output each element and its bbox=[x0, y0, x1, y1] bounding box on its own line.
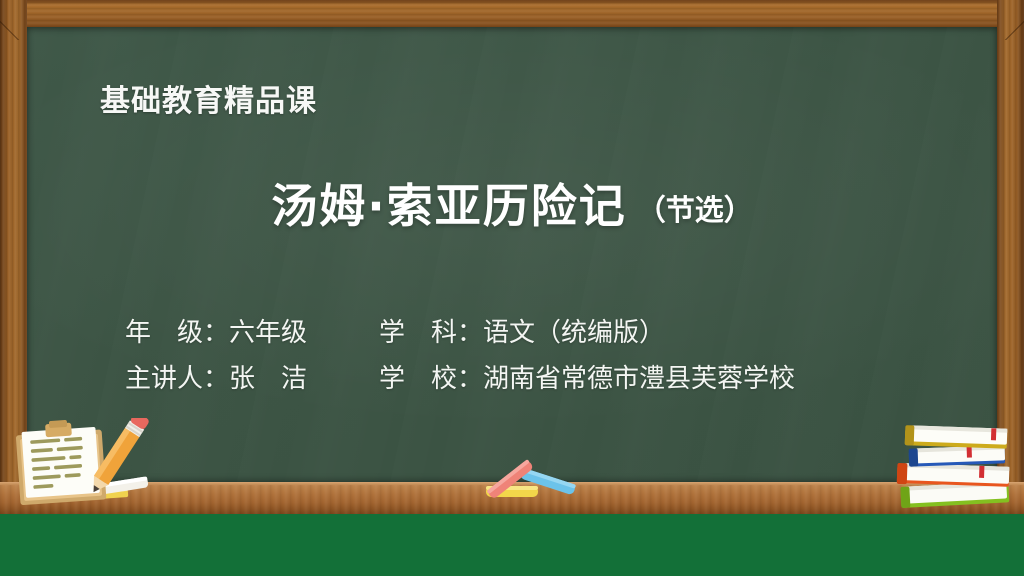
metadata-row-grade-subject: 年 级：六年级学 科：语文（统编版） bbox=[125, 310, 795, 356]
frame-corner-joint-right bbox=[984, 0, 1024, 40]
bottom-green-band bbox=[0, 514, 1024, 576]
presenter-label: 主讲人： bbox=[125, 356, 229, 402]
lesson-metadata: 年 级：六年级学 科：语文（统编版） 主讲人：张 洁学 校：湖南省常德市澧县芙蓉… bbox=[125, 310, 795, 402]
school-value: 湖南省常德市澧县芙蓉学校 bbox=[483, 364, 795, 393]
lesson-title-suffix: （节选） bbox=[637, 193, 753, 227]
presentation-slide: 基础教育精品课 汤姆·索亚历险记（节选） 年 级：六年级学 科：语文（统编版） … bbox=[0, 0, 1024, 576]
chalk-sticks-illustration bbox=[470, 458, 590, 503]
grade-label: 年 级： bbox=[125, 310, 229, 356]
book-blue-icon bbox=[909, 445, 1006, 466]
clipboard-illustration bbox=[8, 418, 183, 514]
school-label: 学 校： bbox=[379, 356, 483, 402]
book-yellow-icon bbox=[905, 425, 1008, 449]
presenter-value: 张 洁 bbox=[229, 364, 307, 393]
lesson-title: 汤姆·索亚历险记（节选） bbox=[0, 170, 1024, 236]
grade-value: 六年级 bbox=[229, 318, 307, 347]
book-orange-icon bbox=[897, 463, 1010, 488]
lesson-title-main: 汤姆·索亚历险记 bbox=[271, 179, 626, 233]
frame-top-rail bbox=[0, 0, 1024, 27]
program-kicker: 基础教育精品课 bbox=[100, 76, 317, 120]
metadata-row-presenter-school: 主讲人：张 洁学 校：湖南省常德市澧县芙蓉学校 bbox=[125, 356, 795, 402]
subject-label: 学 科： bbox=[379, 310, 483, 356]
clipboard-body-icon bbox=[15, 418, 107, 505]
colored-chalk-decoration bbox=[470, 458, 590, 503]
book-stack-illustration bbox=[895, 418, 1020, 514]
clipboard-decoration bbox=[8, 418, 183, 514]
book-stack-decoration bbox=[895, 418, 1020, 514]
subject-value: 语文（统编版） bbox=[483, 318, 665, 347]
frame-corner-joint-left bbox=[0, 0, 40, 40]
